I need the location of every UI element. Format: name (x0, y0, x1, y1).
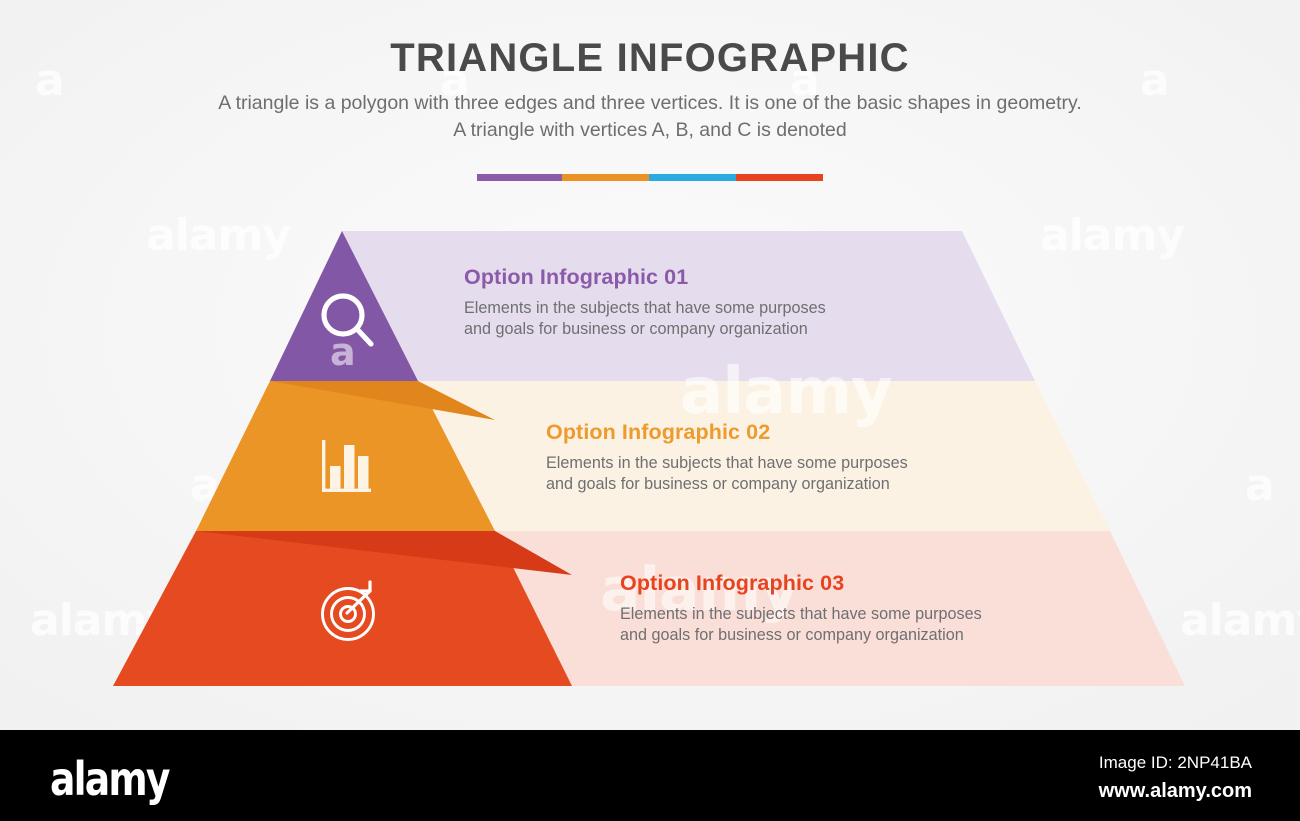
option-block-1: Option Infographic 01 Elements in the su… (464, 265, 934, 341)
alamy-logo: alamy (50, 752, 169, 806)
option-heading: Option Infographic 01 (464, 265, 934, 290)
slide-area: alamy alamy alamy alamy alamy a a a a a … (0, 0, 1300, 730)
image-id-label: Image ID: 2NP41BA (1099, 750, 1252, 776)
alamy-watermark-bar: alamy Image ID: 2NP41BA www.alamy.com (0, 730, 1300, 821)
option-heading: Option Infographic 02 (546, 420, 1016, 445)
option-description: Elements in the subjects that have some … (464, 290, 934, 341)
option-block-3: Option Infographic 03 Elements in the su… (620, 571, 1090, 647)
option-heading: Option Infographic 03 (620, 571, 1090, 596)
option-description: Elements in the subjects that have some … (546, 445, 1016, 496)
alamy-url: www.alamy.com (1099, 776, 1252, 806)
alamy-meta: Image ID: 2NP41BA www.alamy.com (1099, 750, 1252, 806)
option-block-2: Option Infographic 02 Elements in the su… (546, 420, 1016, 496)
option-description: Elements in the subjects that have some … (620, 596, 1090, 647)
infographic-canvas: alamy alamy alamy alamy alamy a a a a a … (0, 0, 1300, 821)
